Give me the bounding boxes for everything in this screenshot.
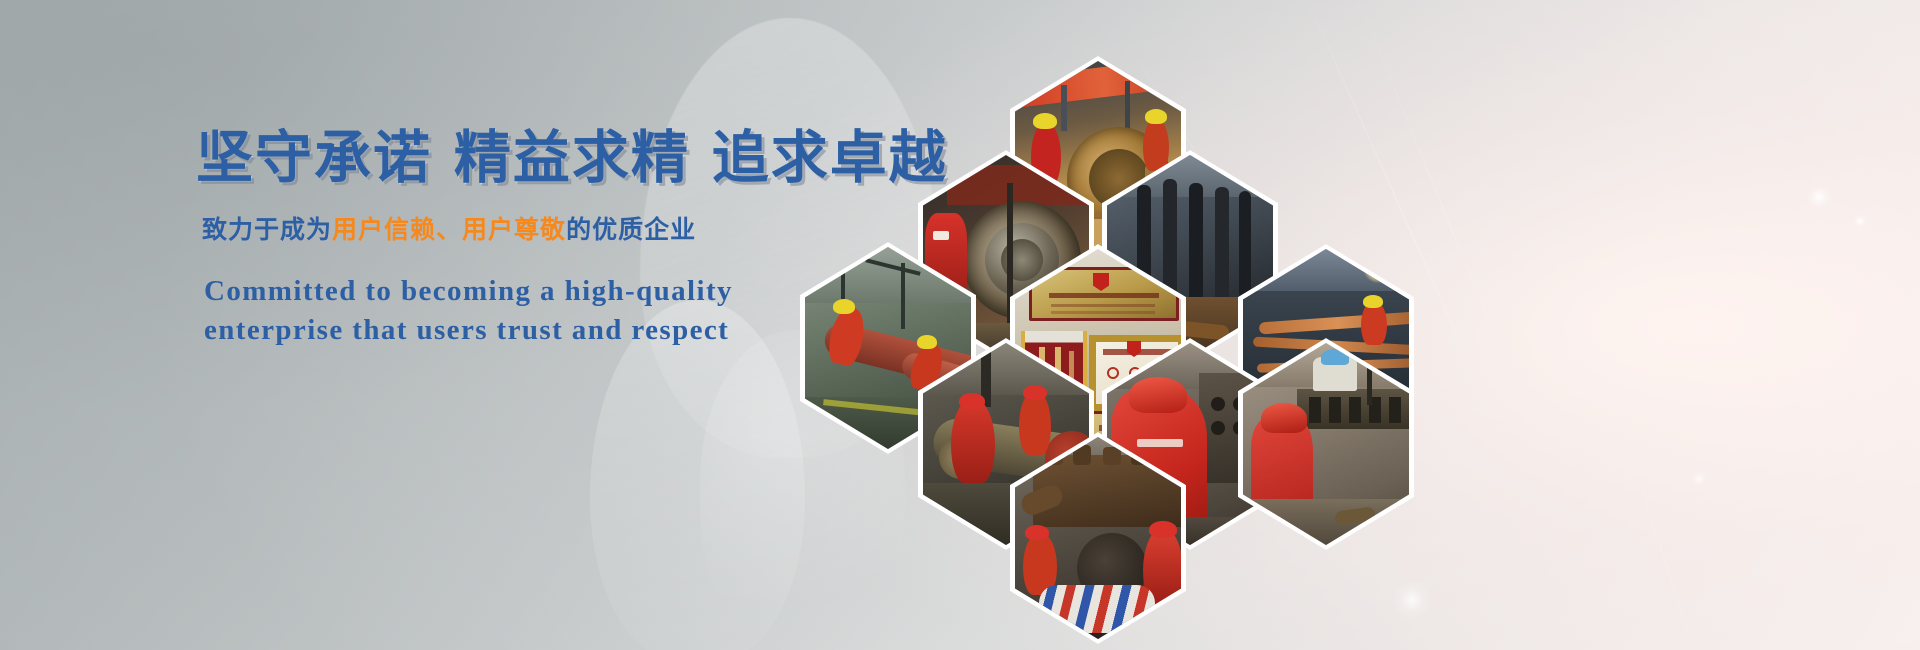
subtitle-highlight-1: 用户信赖 [332,215,436,244]
subtitle-part-1: 致力于成为 [202,215,332,244]
lens-flare-4 [1690,470,1708,488]
hero-banner: 坚守承诺 精益求精 追求卓越 致力于成为用户信赖、用户尊敬的优质企业 Commi… [0,0,1920,650]
subtitle-separator: 、 [436,215,462,244]
subtitle-part-2: 的优质企业 [566,215,696,244]
hexagon-photo-collage [770,28,1450,628]
light-streak-4 [1600,360,1712,650]
lens-flare-2 [1853,214,1867,228]
lens-flare-1 [1806,184,1832,210]
subtitle-highlight-2: 用户尊敬 [462,215,566,244]
